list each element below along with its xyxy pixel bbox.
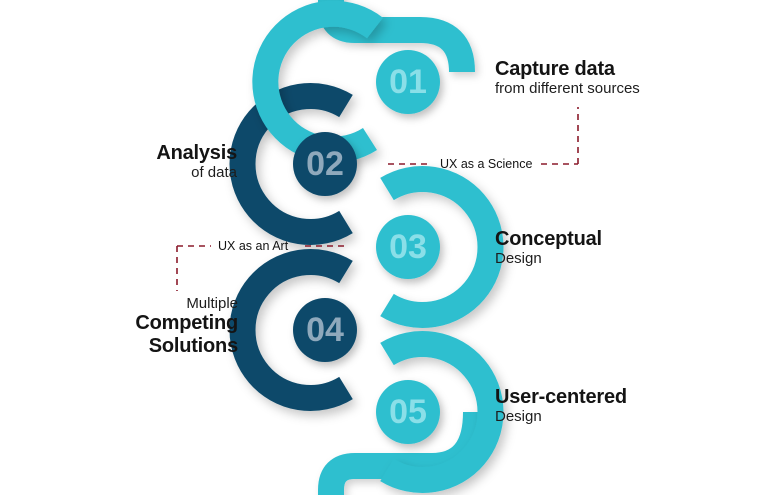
step-number-03: 03 (389, 228, 427, 266)
step-label-03: Conceptual Design (495, 228, 602, 268)
process-chain-graphic: 01 02 03 04 05 (0, 0, 782, 495)
infographic-canvas: 01 02 03 04 05 Capture data from differe… (0, 0, 782, 495)
step-subtitle-03: Design (495, 250, 602, 267)
step-title-03: Conceptual (495, 228, 602, 250)
step-label-05: User-centered Design (495, 386, 627, 426)
step-number-04: 04 (306, 311, 344, 349)
step-subtitle-05: Design (495, 408, 627, 425)
step-number-02: 02 (306, 145, 344, 183)
step-title-02: Analysis (156, 142, 237, 164)
step-subtitle-01: from different sources (495, 80, 640, 97)
connector-label-ux-as-an-art: UX as an Art (218, 240, 288, 253)
step-label-01: Capture data from different sources (495, 58, 640, 98)
step-label-02: Analysis of data (156, 142, 237, 182)
connector-ux-as-a-science (388, 107, 578, 164)
step-title-01: Capture data (495, 58, 640, 80)
connector-label-ux-as-a-science: UX as a Science (440, 158, 532, 171)
step-number-01: 01 (389, 63, 427, 101)
step-title-04-line2: Competing (135, 312, 238, 334)
step-title-05: User-centered (495, 386, 627, 408)
step-label-04: Multiple Competing Solutions (135, 295, 238, 357)
step-subtitle-02: of data (156, 164, 237, 181)
step-title-04-line1: Multiple (135, 295, 238, 312)
step-number-05: 05 (389, 393, 427, 431)
step-title-04-line3: Solutions (135, 335, 238, 357)
